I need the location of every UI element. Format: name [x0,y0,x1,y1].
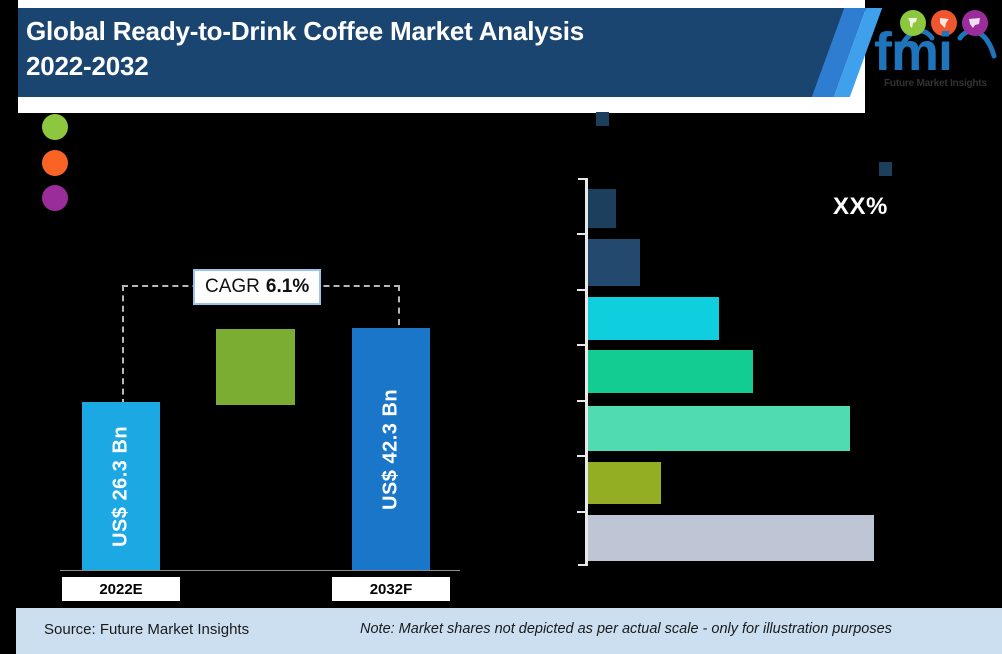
logo-wordmark: fmi [874,24,994,80]
marker-square-right [879,162,892,176]
hbar-segment-6 [588,462,661,504]
column-bar-2032f: US$ 42.3 Bn [352,328,430,570]
cagr-bracket-left-leg [122,285,124,405]
hbar-segment-5 [588,406,850,451]
axis-label-2032f: 2032F [332,577,450,601]
axis-tick-5 [577,455,586,457]
footer-source-text: Source: Future Market Insights [44,621,249,638]
hbar-segment-2 [588,239,640,286]
column-bar-2032f-value: US$ 42.3 Bn [352,328,430,570]
column-bar-2022e-value: US$ 26.3 Bn [82,402,160,570]
page-title-line-2: 2022-2032 [26,49,786,84]
axis-tick-4 [577,400,586,402]
page-title: Global Ready-to-Drink Coffee Market Anal… [26,14,786,84]
cagr-value: 6.1% [266,276,309,298]
infographic-canvas: Global Ready-to-Drink Coffee Market Anal… [0,0,1002,654]
cagr-badge: CAGR 6.1% [193,269,321,305]
hbar-segment-4 [588,350,753,393]
axis-tick-3 [577,344,586,346]
cagr-label: CAGR [205,276,260,298]
hbar-segment-1 [588,189,616,228]
hbar-segment-3 [588,297,719,340]
page-title-line-1: Global Ready-to-Drink Coffee Market Anal… [26,16,584,46]
logo-tagline: Future Market Insights [884,78,1000,89]
column-chart-baseline [60,570,460,571]
cagr-bracket-right-leg [398,285,400,325]
axis-cap-top [578,178,586,180]
marker-square-top [596,112,609,126]
axis-label-2022e: 2022E [62,577,180,601]
share-placeholder-label: XX% [833,193,888,221]
fmi-logo: fmi Future Market Insights [864,4,1000,104]
accent-square [216,329,295,405]
legend-dot-green [42,114,68,140]
legend-dot-purple [42,185,68,211]
axis-tick-6 [577,511,586,513]
axis-tick-1 [577,233,586,235]
footer-note-text: Note: Market shares not depicted as per … [360,621,892,637]
hbar-segment-7 [588,515,874,561]
footer-bar: Source: Future Market Insights Note: Mar… [16,608,1002,654]
axis-cap-bottom [578,564,586,566]
column-bar-2022e: US$ 26.3 Bn [82,402,160,570]
axis-tick-2 [577,289,586,291]
legend-dot-orange [42,150,68,176]
